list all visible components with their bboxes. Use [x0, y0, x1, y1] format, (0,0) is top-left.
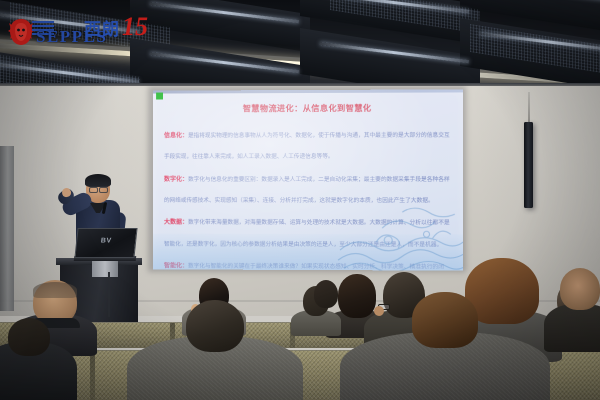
person-head — [8, 318, 50, 356]
audience-member — [150, 300, 280, 400]
audience-member — [0, 318, 64, 400]
photo-scene: SEPPES 西朗 15 智慧物流进化：从信息化到智慧化 信息化：是指将现实物理… — [0, 0, 600, 400]
person-head — [412, 292, 478, 348]
audience-row-front — [0, 0, 600, 400]
person-head — [186, 300, 244, 352]
audience-member — [370, 292, 520, 400]
